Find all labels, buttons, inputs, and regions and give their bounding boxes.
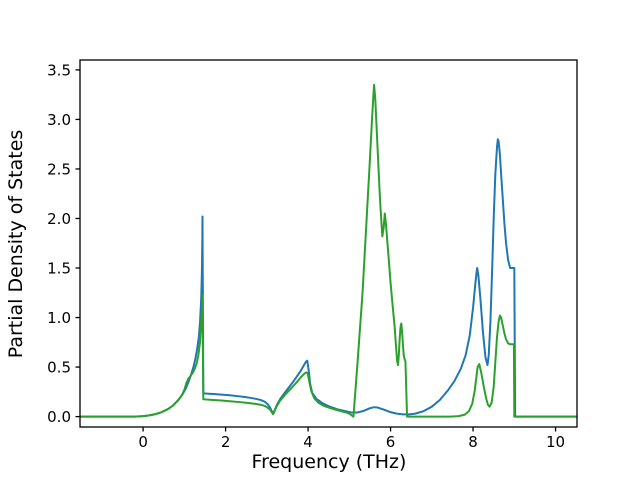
pdos-line-chart: 02468100.00.51.01.52.02.53.03.5 Frequenc… [0,0,640,480]
x-tick-label: 8 [468,433,478,451]
y-tick-label: 1.0 [47,309,71,327]
y-tick-label: 0.5 [47,359,71,377]
y-tick-label: 0.0 [47,408,71,426]
x-tick-label: 0 [138,433,148,451]
x-tick-label: 6 [386,433,396,451]
axes-group [80,60,577,427]
tick-labels-group: 02468100.00.51.01.52.02.53.03.5 [47,61,565,451]
y-tick-label: 3.0 [47,111,71,129]
y-axis-title: Partial Density of States [5,130,27,359]
y-tick-label: 3.5 [47,61,71,79]
tick-marks-group [76,70,556,432]
y-tick-label: 2.5 [47,160,71,178]
data-line-series-2 [80,85,577,417]
figure-canvas: 02468100.00.51.01.52.02.53.03.5 Frequenc… [0,0,640,480]
y-tick-label: 2.0 [47,210,71,228]
x-axis-title: Frequency (THz) [252,451,407,473]
y-tick-label: 1.5 [47,260,71,278]
x-tick-label: 2 [221,433,231,451]
x-tick-label: 4 [303,433,313,451]
plot-frame [80,60,577,427]
data-line-series-1 [80,139,577,416]
x-tick-label: 10 [546,433,565,451]
data-series-group [80,85,577,417]
